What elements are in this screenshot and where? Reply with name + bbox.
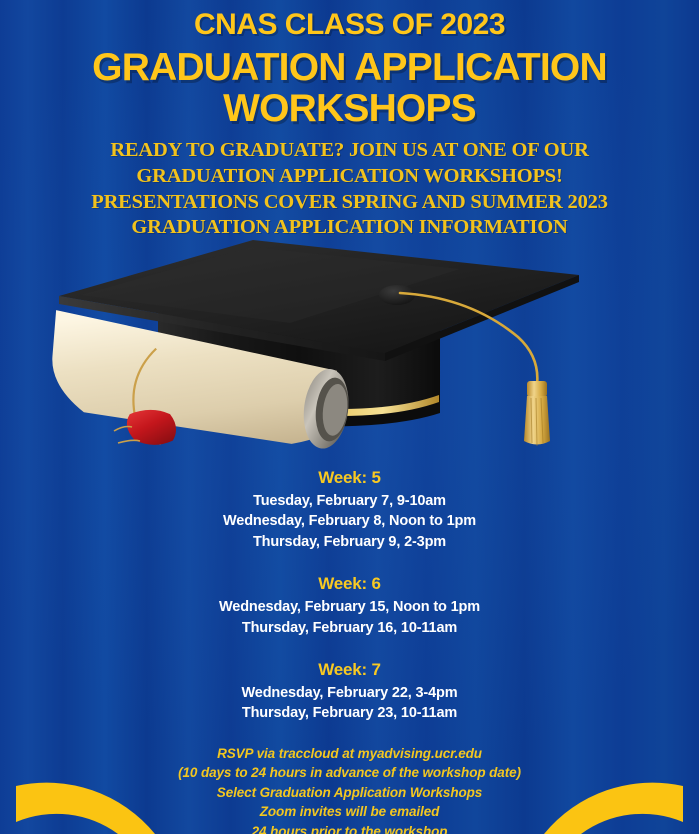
session-row: Thursday, February 16, 10-11am [0, 618, 699, 639]
graduation-workshop-poster: CNAS CLASS OF 2023 GRADUATION APPLICATIO… [0, 0, 699, 834]
week-block: Week: 6 Wednesday, February 15, Noon to … [0, 572, 699, 638]
rsvp-footer: RSVP via traccloud at myadvising.ucr.edu… [0, 744, 699, 834]
workshop-schedule: Week: 5 Tuesday, February 7, 9-10am Wedn… [0, 466, 699, 724]
week-block: Week: 7 Wednesday, February 22, 3-4pm Th… [0, 658, 699, 724]
session-row: Wednesday, February 22, 3-4pm [0, 683, 699, 704]
week-block: Week: 5 Tuesday, February 7, 9-10am Wedn… [0, 466, 699, 552]
subheading-line-1: READY TO GRADUATE? JOIN US AT ONE OF OUR [0, 138, 699, 164]
headline-line-2: WORKSHOPS [0, 89, 699, 130]
footer-timing-line: 24 hours prior to the workshop [0, 822, 699, 834]
poster-headline: GRADUATION APPLICATION WORKSHOPS [0, 48, 699, 130]
session-row: Wednesday, February 8, Noon to 1pm [0, 511, 699, 532]
subheading-line-4: GRADUATION APPLICATION INFORMATION [0, 215, 699, 241]
footer-zoom-line: Zoom invites will be emailed [0, 802, 699, 821]
week-title: Week: 6 [0, 572, 699, 597]
headline-line-1: GRADUATION APPLICATION [92, 46, 607, 89]
session-row: Tuesday, February 7, 9-10am [0, 491, 699, 512]
footer-note-line: (10 days to 24 hours in advance of the w… [0, 763, 699, 782]
session-row: Thursday, February 23, 10-11am [0, 703, 699, 724]
week-title: Week: 7 [0, 658, 699, 683]
week-title: Week: 5 [0, 466, 699, 491]
subheading-line-3: PRESENTATIONS COVER SPRING AND SUMMER 20… [0, 190, 699, 216]
poster-kicker: CNAS CLASS OF 2023 [0, 8, 699, 41]
subheading-line-2: GRADUATION APPLICATION WORKSHOPS! [0, 164, 699, 190]
session-row: Thursday, February 9, 2-3pm [0, 532, 699, 553]
footer-select-line: Select Graduation Application Workshops [0, 783, 699, 802]
poster-subheading: READY TO GRADUATE? JOIN US AT ONE OF OUR… [0, 138, 699, 241]
session-row: Wednesday, February 15, Noon to 1pm [0, 597, 699, 618]
footer-rsvp-line: RSVP via traccloud at myadvising.ucr.edu [0, 744, 699, 763]
